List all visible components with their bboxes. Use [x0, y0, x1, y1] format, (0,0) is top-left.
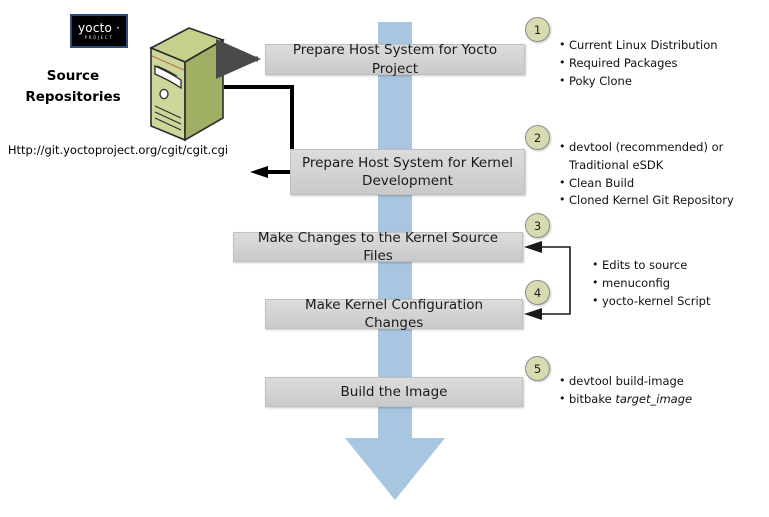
step-5-notes: devtool build-image bitbake target_image — [547, 373, 753, 409]
step-1-note-3: Poky Clone — [559, 73, 757, 91]
source-repository-url: Http://git.yoctoproject.org/cgit/cgit.cg… — [4, 143, 232, 157]
shared-note-3: yocto-kernel Script — [592, 293, 760, 311]
source-label-line2: Repositories — [14, 87, 132, 108]
step-1-note-1: Current Linux Distribution — [559, 37, 757, 55]
step-2-note-2: Clean Build — [559, 175, 759, 193]
step-5-box[interactable]: Build the Image — [265, 377, 523, 407]
arrowhead-step2 — [250, 166, 268, 178]
step-5-note-1: devtool build-image — [559, 373, 753, 391]
shared-note-2: menuconfig — [592, 275, 760, 293]
step-1-notes: Current Linux Distribution Required Pack… — [547, 37, 757, 90]
steps-3-4-shared-notes: Edits to source menuconfig yocto-kernel … — [580, 257, 760, 310]
step-4-number: 4 — [525, 280, 550, 305]
step-3-number: 3 — [525, 213, 550, 238]
yocto-logo-wordmark: yocto · — [78, 22, 120, 34]
step-2-note-3: Cloned Kernel Git Repository — [559, 192, 759, 210]
kernel-dev-workflow-diagram: yocto · PROJECT Source Repositories Htt — [0, 0, 769, 517]
source-label-line1: Source — [14, 66, 132, 87]
step-2-box[interactable]: Prepare Host System for Kernel Developme… — [290, 149, 525, 195]
step-1-box[interactable]: Prepare Host System for Yocto Project — [265, 44, 525, 75]
server-tower-icon — [133, 26, 229, 144]
step-3-box[interactable]: Make Changes to the Kernel Source Files — [233, 232, 523, 262]
arrow-server-to-step2 — [224, 87, 292, 172]
step-1-note-2: Required Packages — [559, 55, 757, 73]
arrowhead-step4 — [524, 308, 542, 320]
step-2-notes: devtool (recommended) or Traditional eSD… — [547, 139, 759, 210]
step-5-note-2-variable: target_image — [615, 392, 692, 406]
arrowhead-step3 — [524, 241, 542, 253]
step-5-note-2-prefix: bitbake — [569, 392, 615, 406]
shared-note-1: Edits to source — [592, 257, 760, 275]
step-4-box[interactable]: Make Kernel Configuration Changes — [265, 299, 523, 329]
yocto-project-logo: yocto · PROJECT — [70, 14, 128, 48]
source-repositories-label: Source Repositories — [14, 66, 132, 108]
step-5-note-2: bitbake target_image — [559, 391, 753, 409]
step-2-note-1: devtool (recommended) or Traditional eSD… — [559, 139, 759, 175]
pipeline-arrowhead — [345, 438, 445, 500]
yocto-logo-subtext: PROJECT — [85, 36, 113, 40]
